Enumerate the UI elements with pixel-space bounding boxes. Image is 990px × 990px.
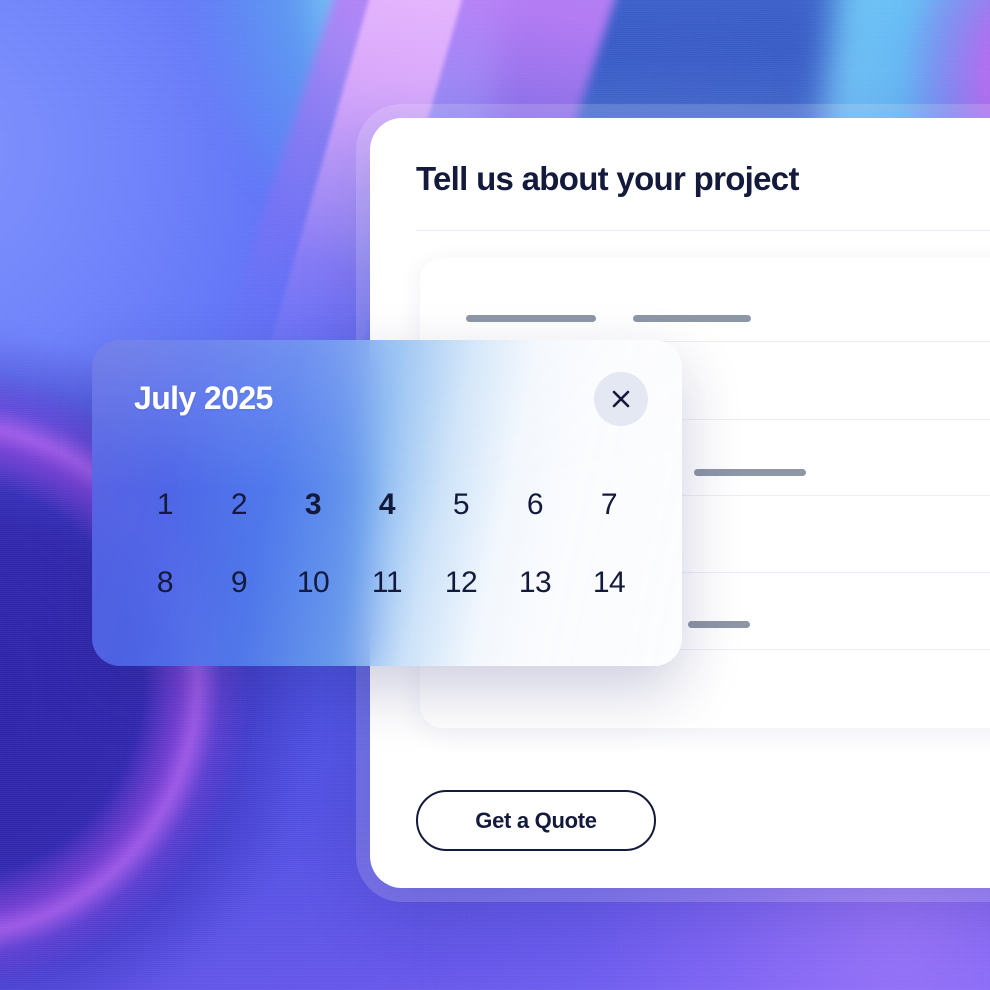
calendar-week-row: 891011121314 — [128, 544, 646, 622]
calendar-day-10[interactable]: 10 — [276, 568, 350, 598]
calendar-close-button[interactable] — [594, 372, 648, 426]
field-label-top-left — [466, 315, 596, 322]
calendar-day-grid: 1234567891011121314 — [128, 466, 646, 622]
close-icon — [609, 387, 633, 411]
calendar-day-1[interactable]: 1 — [128, 490, 202, 520]
field-label-lower — [688, 621, 750, 628]
calendar-day-8[interactable]: 8 — [128, 568, 202, 598]
calendar-day-14[interactable]: 14 — [572, 568, 646, 598]
title-divider — [416, 230, 990, 231]
calendar-day-2[interactable]: 2 — [202, 490, 276, 520]
calendar-day-9[interactable]: 9 — [202, 568, 276, 598]
page-title: Tell us about your project — [416, 160, 799, 198]
calendar-day-13[interactable]: 13 — [498, 568, 572, 598]
calendar-day-3[interactable]: 3 — [276, 490, 350, 520]
calendar-month-year-label: July 2025 — [134, 380, 273, 417]
field-label-top-right — [633, 315, 751, 322]
calendar-day-4[interactable]: 4 — [350, 490, 424, 520]
date-picker-popover: July 2025 1234567891011121314 — [92, 340, 682, 666]
calendar-day-7[interactable]: 7 — [572, 490, 646, 520]
get-a-quote-button[interactable]: Get a Quote — [416, 790, 656, 851]
calendar-week-row: 1234567 — [128, 466, 646, 544]
field-label-middle — [694, 469, 806, 476]
screenshot-root: Tell us about your project Get a Quote J… — [0, 0, 990, 990]
calendar-day-5[interactable]: 5 — [424, 490, 498, 520]
calendar-day-6[interactable]: 6 — [498, 490, 572, 520]
calendar-day-12[interactable]: 12 — [424, 568, 498, 598]
calendar-day-11[interactable]: 11 — [350, 568, 424, 598]
